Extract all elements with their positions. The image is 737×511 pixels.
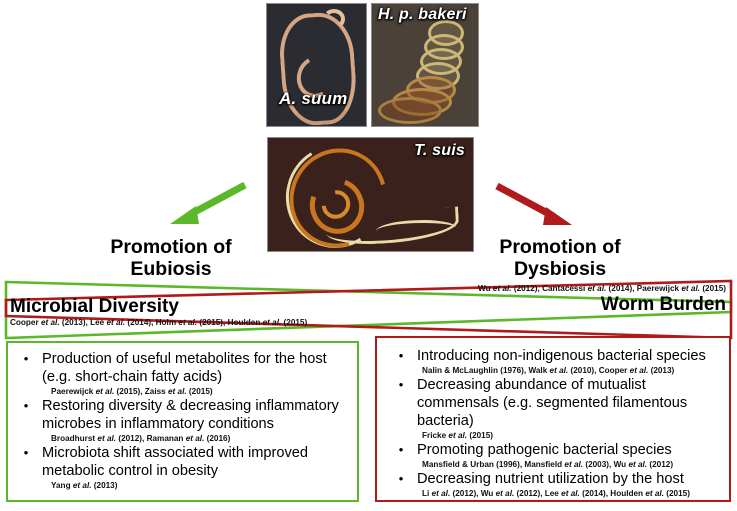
- photo-caption-t-suis: T. suis: [414, 142, 465, 160]
- title-block-microbial-diversity: Microbial Diversity Cooper et al. (2013)…: [6, 296, 358, 337]
- list-item-citation: Paerewijck et al. (2015), Zaiss et al. (…: [10, 386, 353, 397]
- spiral-tail-end: [376, 220, 456, 239]
- list-item: • Introducing non-indigenous bacterial s…: [381, 347, 725, 365]
- list-item-citation: Fricke et al. (2015): [381, 430, 725, 441]
- photo-caption-h-p-bakeri: H. p. bakeri: [378, 6, 467, 24]
- bullet-icon: •: [393, 376, 409, 394]
- bullet-icon: •: [18, 444, 34, 462]
- list-item-text: Microbiota shift associated with improve…: [42, 444, 353, 480]
- list-item: • Decreasing abundance of mutualist comm…: [381, 376, 725, 430]
- list-item-text: Decreasing abundance of mutualist commen…: [417, 376, 725, 430]
- list-item: • Decreasing nutrient utilization by the…: [381, 470, 725, 488]
- list-item: • Promoting pathogenic bacterial species: [381, 441, 725, 459]
- title-block-worm-burden: Wu et al. (2012), Cantacessi et al. (201…: [412, 283, 732, 324]
- list-item-citation: Mansfield & Urban (1996), Mansfield et a…: [381, 459, 725, 470]
- list-item-text: Production of useful metabolites for the…: [42, 350, 353, 386]
- bullet-icon: •: [393, 470, 409, 488]
- heading-promotion-dysbiosis: Promotion of Dysbiosis: [472, 236, 648, 280]
- worm-tip-shape: [323, 9, 345, 29]
- title-worm-burden: Worm Burden: [412, 294, 732, 315]
- bullet-icon: •: [18, 397, 34, 415]
- citation-microbial-diversity: Cooper et al. (2013), Lee et al. (2014),…: [6, 317, 358, 328]
- bullet-icon: •: [393, 441, 409, 459]
- list-item-citation: Yang et al. (2013): [10, 480, 353, 491]
- list-item: • Microbiota shift associated with impro…: [10, 444, 353, 480]
- list-item-text: Promoting pathogenic bacterial species: [417, 441, 672, 459]
- photo-t-suis: T. suis: [267, 137, 474, 252]
- heading-line-2: Dysbiosis: [472, 258, 648, 280]
- heading-line-1: Promotion of: [86, 236, 256, 258]
- panel-dysbiosis-risks: • Introducing non-indigenous bacterial s…: [375, 336, 731, 502]
- list-item: • Production of useful metabolites for t…: [10, 350, 353, 386]
- list-item-citation: Li et al. (2012), Wu et al. (2012), Lee …: [381, 488, 725, 499]
- list-item: • Restoring diversity & decreasing infla…: [10, 397, 353, 433]
- dysbiosis-list: • Introducing non-indigenous bacterial s…: [377, 338, 729, 499]
- heading-line-2: Eubiosis: [86, 258, 256, 280]
- bullet-icon: •: [393, 347, 409, 365]
- list-item-text: Restoring diversity & decreasing inflamm…: [42, 397, 353, 433]
- figure-root: A. suum H. p. bakeri T. suis: [0, 0, 737, 511]
- list-item-text: Decreasing nutrient utilization by the h…: [417, 470, 684, 488]
- coil-segment: [378, 97, 442, 124]
- heading-line-1: Promotion of: [472, 236, 648, 258]
- eubiosis-list: • Production of useful metabolites for t…: [8, 343, 357, 491]
- citation-worm-burden: Wu et al. (2012), Cantacessi et al. (201…: [412, 283, 732, 294]
- green-arrow: [170, 185, 245, 224]
- photo-h-p-bakeri: H. p. bakeri: [371, 3, 479, 127]
- red-arrow: [497, 186, 572, 225]
- bullet-icon: •: [18, 350, 34, 368]
- list-item-citation: Nalin & McLaughlin (1976), Walk et al. (…: [381, 365, 725, 376]
- heading-promotion-eubiosis: Promotion of Eubiosis: [86, 236, 256, 280]
- list-item-citation: Broadhurst et al. (2012), Ramanan et al.…: [10, 433, 353, 444]
- photo-a-suum: A. suum: [266, 3, 367, 127]
- list-item-text: Introducing non-indigenous bacterial spe…: [417, 347, 706, 365]
- photo-caption-a-suum: A. suum: [279, 89, 347, 109]
- panel-eubiosis-benefits: • Production of useful metabolites for t…: [6, 341, 359, 502]
- title-microbial-diversity: Microbial Diversity: [6, 296, 358, 317]
